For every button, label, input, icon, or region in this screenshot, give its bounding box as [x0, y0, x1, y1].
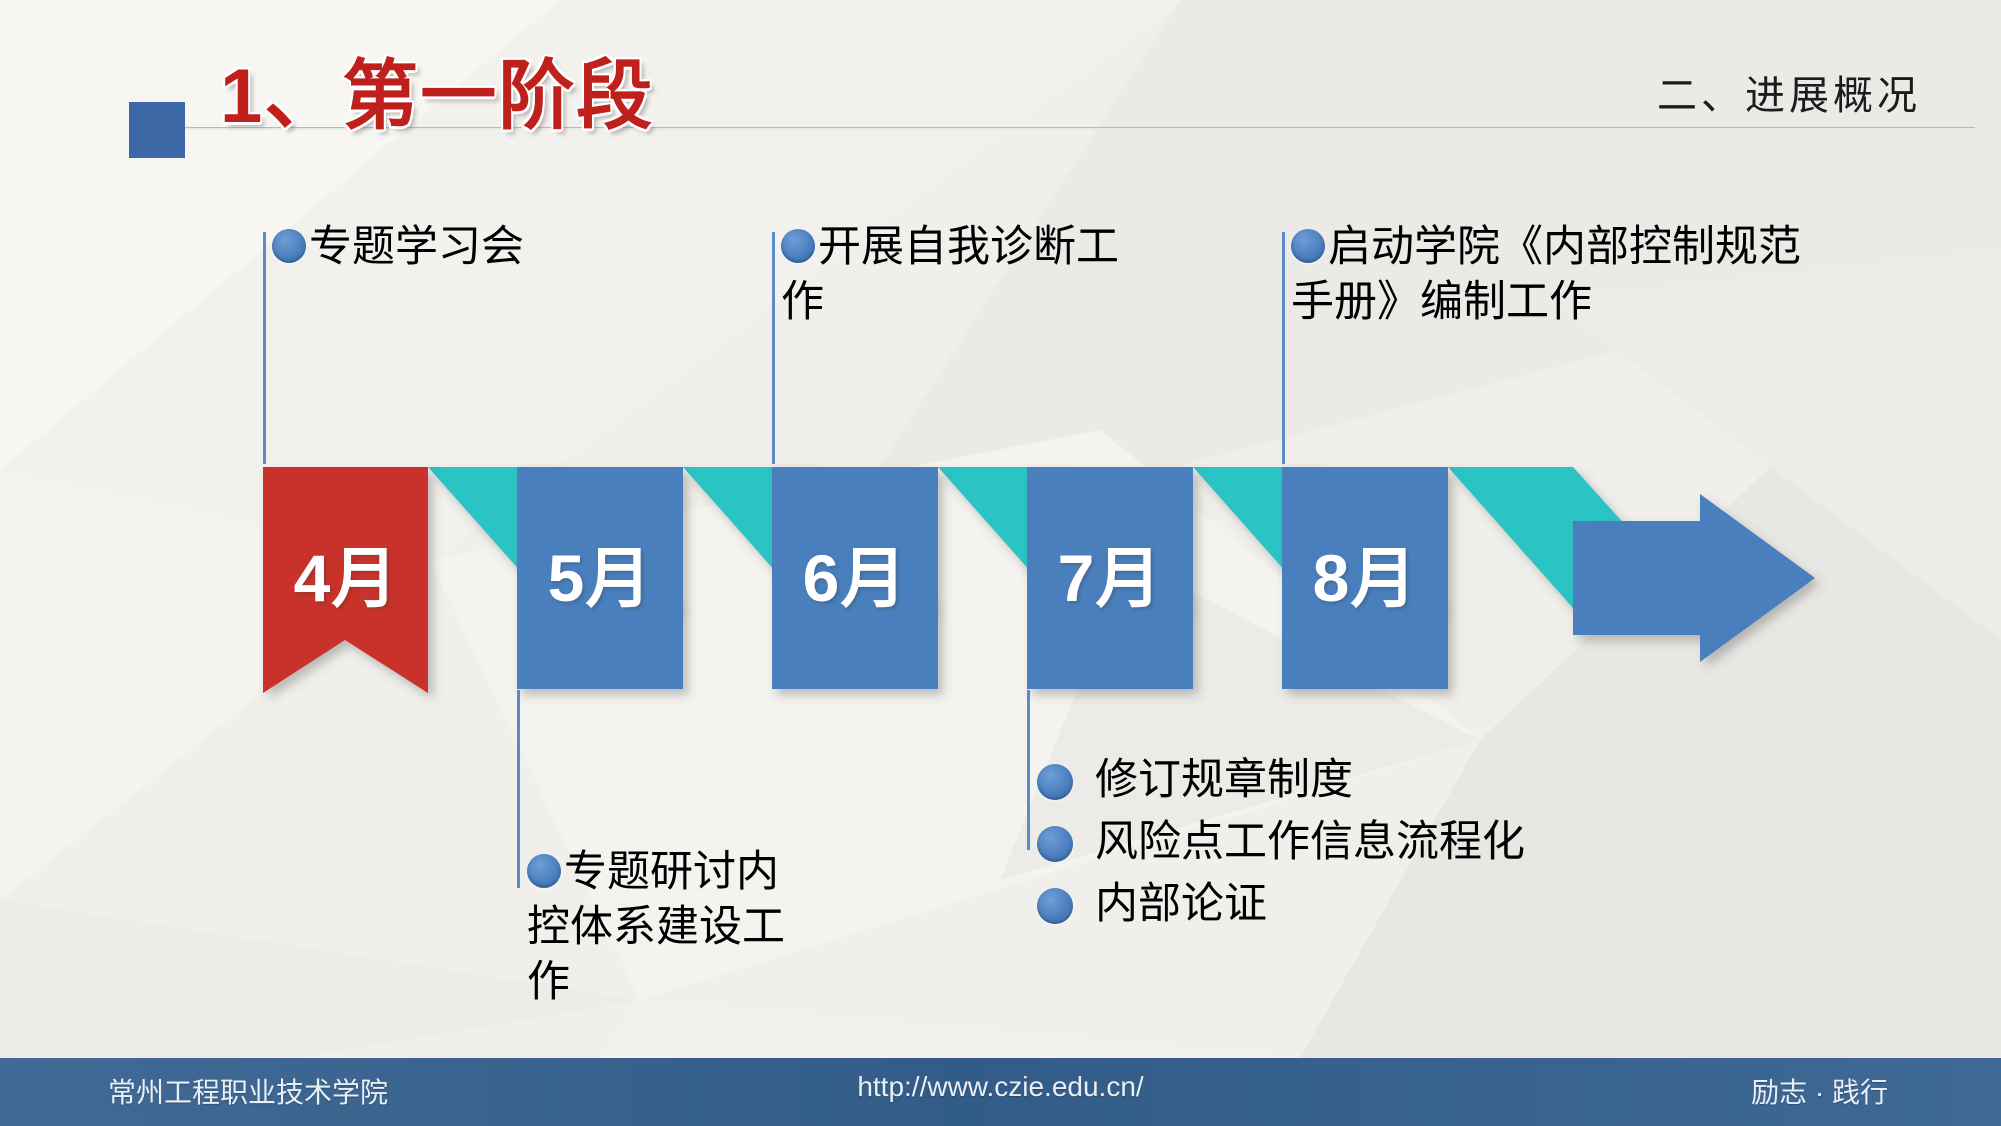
callout-june-line2: 作 [781, 275, 1181, 330]
footer-url[interactable]: http://www.czie.edu.cn/ [857, 1071, 1143, 1103]
callout-july-item-0: 修订规章制度 [1095, 758, 1353, 803]
callout-august-line2: 手册》编制工作 [1291, 275, 1951, 330]
callout-may-line3: 作 [527, 955, 857, 1010]
month-text: 7月 [1058, 545, 1163, 611]
bullet-icon [1037, 826, 1073, 862]
callout-july-item-2: 内部论证 [1095, 882, 1267, 927]
callout-april-text: 专题学习会 [309, 223, 524, 271]
bullet-icon [527, 854, 561, 888]
month-text: 8月 [1313, 545, 1418, 611]
footer-institution: 常州工程职业技术学院 [108, 1071, 388, 1111]
bullet-icon [1291, 229, 1325, 263]
callout-may-line1: 专题研讨内 [564, 848, 779, 896]
list-item: 风险点工作信息流程化 [1037, 820, 1677, 865]
list-item: 内部论证 [1037, 882, 1677, 927]
month-label-april: 4月 [263, 467, 429, 689]
callout-april: 专题学习会 [272, 220, 692, 275]
callout-may-line1-wrap: 专题研讨内 [527, 845, 857, 900]
callout-may: 专题研讨内 控体系建设工 作 [527, 845, 857, 1010]
month-label-july: 7月 [1027, 467, 1193, 689]
callout-august-line1: 启动学院《内部控制规范 [1328, 223, 1801, 271]
month-label-june: 6月 [772, 467, 938, 689]
list-item: 修订规章制度 [1037, 758, 1677, 803]
callout-june: 开展自我诊断工 作 [781, 220, 1181, 330]
bullet-icon [1037, 888, 1073, 924]
callout-july: 修订规章制度 风险点工作信息流程化 内部论证 [1037, 758, 1677, 944]
slide-canvas: 1、第一阶段 二、进展概况 4月 5月 6月 [0, 0, 2001, 1126]
month-label-may: 5月 [517, 467, 683, 689]
callout-june-line1: 开展自我诊断工 [818, 223, 1119, 271]
callout-august-line1-wrap: 启动学院《内部控制规范 [1291, 220, 1951, 275]
callout-july-item-1: 风险点工作信息流程化 [1095, 820, 1525, 865]
callout-may-line2: 控体系建设工 [527, 900, 857, 955]
callout-june-line1-wrap: 开展自我诊断工 [781, 220, 1181, 275]
month-text: 5月 [548, 545, 653, 611]
bullet-icon [1037, 764, 1073, 800]
month-label-august: 8月 [1282, 467, 1448, 689]
callout-august: 启动学院《内部控制规范 手册》编制工作 [1291, 220, 1951, 330]
month-text: 6月 [803, 545, 908, 611]
footer-motto: 励志 · 践行 [1751, 1071, 1888, 1111]
bullet-icon [272, 229, 306, 263]
month-text: 4月 [294, 545, 399, 611]
bullet-icon [781, 229, 815, 263]
